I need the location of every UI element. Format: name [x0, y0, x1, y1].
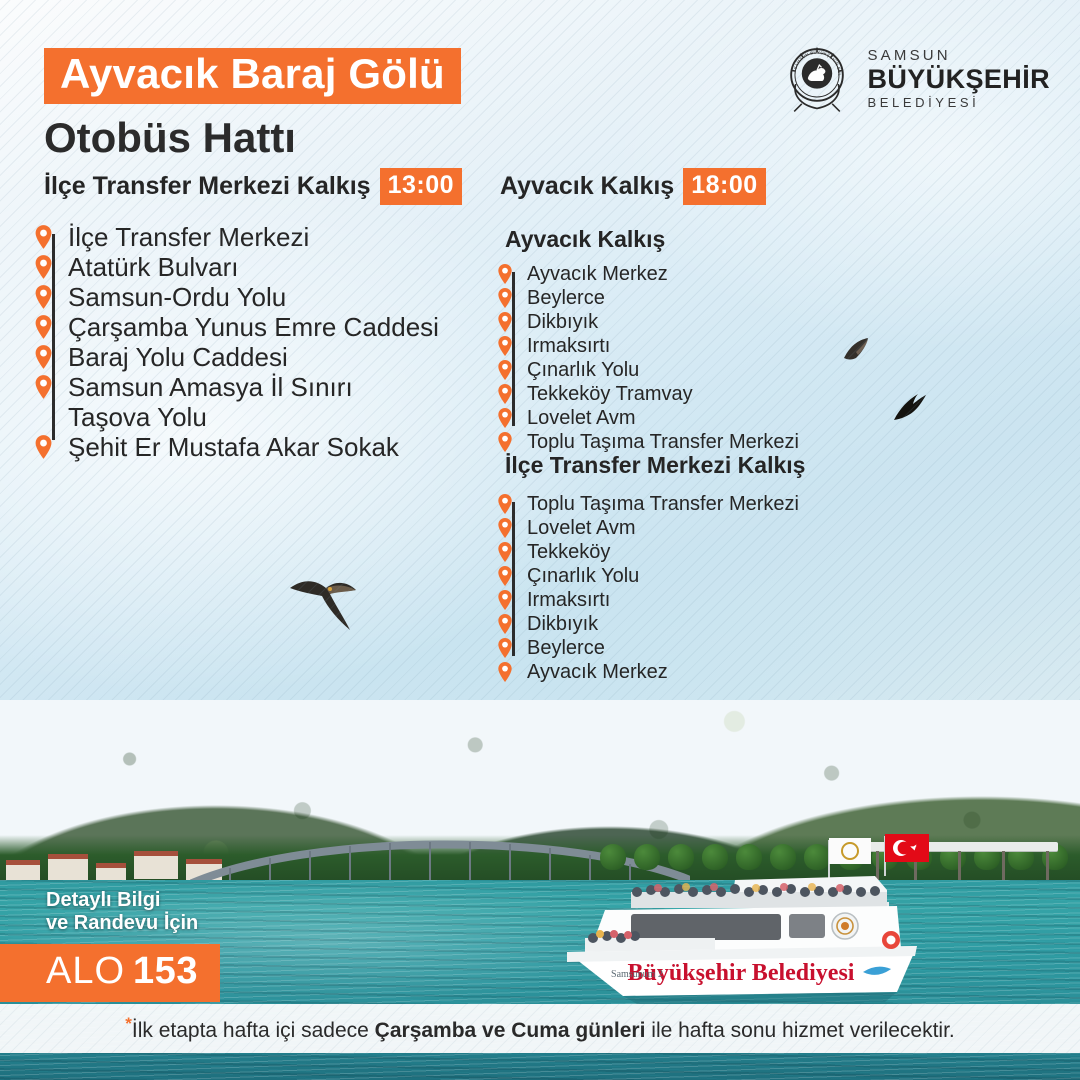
- alo-phone-badge[interactable]: ALO153: [0, 944, 220, 1002]
- contact-info-line-1: Detaylı Bilgi: [46, 889, 260, 913]
- stop-item: Atatürk Bulvarı: [52, 252, 439, 282]
- stop-item: Lovelet Avm: [512, 516, 799, 540]
- map-pin-icon: [504, 383, 520, 405]
- stop-label: Toplu Taşıma Transfer Merkezi: [527, 431, 799, 454]
- stop-item: Samsun-Ordu Yolu: [52, 282, 439, 312]
- map-pin-icon: [504, 335, 520, 357]
- right-column-heading: Ayvacık Kalkış 18:00: [500, 168, 766, 205]
- footer-asterisk: *: [125, 1014, 132, 1033]
- poster-root: Büyükşehir Belediyesi Samsunum 2 Ayvacık…: [0, 0, 1080, 1080]
- stop-item: Beylerce: [512, 636, 799, 660]
- map-pin-icon: [42, 344, 61, 370]
- page-title-badge: Ayvacık Baraj Gölü: [44, 48, 461, 104]
- stop-label: Beylerce: [527, 637, 605, 660]
- footer-note-text: *İlk etapta hafta içi sadece Çarşamba ve…: [125, 1014, 955, 1043]
- stop-item: Irmaksırtı: [512, 588, 799, 612]
- bird-small-a-icon: [840, 332, 880, 372]
- stop-label: İlçe Transfer Merkezi: [68, 222, 309, 253]
- stop-item: Taşova Yolu: [52, 402, 439, 432]
- map-pin-icon: [504, 589, 520, 611]
- bird-large-icon: [286, 558, 366, 638]
- stop-item: Toplu Taşıma Transfer Merkezi: [512, 430, 799, 454]
- right-departure-time: 18:00: [683, 168, 765, 205]
- map-pin-icon: [504, 311, 520, 333]
- map-pin-icon: [42, 224, 61, 250]
- stop-item: Dikbıyık: [512, 612, 799, 636]
- stop-label: Ayvacık Merkez: [527, 661, 668, 684]
- map-pin-icon: [42, 434, 61, 460]
- stop-label: Tekkeköy: [527, 541, 610, 564]
- right-stop-list-2: Toplu Taşıma Transfer Merkezi Lovelet Av…: [512, 492, 799, 684]
- page-subtitle: Otobüs Hattı: [44, 116, 461, 160]
- stop-item: Dikbıyık: [512, 310, 799, 334]
- contact-info-lines: Detaylı Bilgi ve Randevu İçin: [46, 889, 260, 936]
- map-pin-icon: [42, 284, 61, 310]
- stop-label: Baraj Yolu Caddesi: [68, 342, 288, 373]
- turkish-flag-icon: [885, 834, 929, 876]
- left-departure-time: 13:00: [380, 168, 462, 205]
- contact-info-line-2: ve Randevu İçin: [46, 912, 260, 936]
- boat-bow-name-text: Samsunum 2: [611, 969, 663, 980]
- map-pin-icon: [504, 637, 520, 659]
- map-pin-icon: [504, 431, 520, 453]
- map-pin-icon: [504, 287, 520, 309]
- stop-label: Dikbıyık: [527, 613, 598, 636]
- map-pin-icon: [42, 374, 61, 400]
- stop-item: Lovelet Avm: [512, 406, 799, 430]
- stop-label: Irmaksırtı: [527, 589, 610, 612]
- footer-part-1: İlk etapta hafta içi sadece: [132, 1019, 375, 1042]
- municipality-seal-icon: SAMSUN BÜYÜKŞEHİR BELEDİYESİ: [779, 40, 855, 116]
- stop-item: Irmaksırtı: [512, 334, 799, 358]
- left-stops-container: İlçe Transfer Merkezi Atatürk Bulvarı Sa…: [52, 222, 439, 462]
- map-pin-icon: [42, 254, 61, 280]
- map-pin-icon: [504, 517, 520, 539]
- right-stop-list-1: Ayvacık Merkez Beylerce Dikbıyık Irmaksı…: [512, 262, 799, 454]
- stop-label: Taşova Yolu: [68, 402, 207, 433]
- logo-wordmark: SAMSUN BÜYÜKŞEHİR BELEDİYESİ: [867, 48, 1050, 109]
- alo-number: 153: [133, 950, 198, 992]
- logo-line-1: SAMSUN: [867, 48, 1050, 63]
- bird-small-b-icon: [888, 386, 932, 430]
- map-pin-icon: [504, 263, 520, 285]
- stop-label: Samsun Amasya İl Sınırı: [68, 372, 353, 403]
- map-pin-icon: [504, 565, 520, 587]
- left-column-heading: İlçe Transfer Merkezi Kalkış 13:00: [44, 168, 462, 205]
- stop-label: Lovelet Avm: [527, 517, 636, 540]
- stop-pin-placeholder: [42, 404, 61, 430]
- alo-word: ALO: [46, 950, 125, 992]
- stop-label: Tekkeköy Tramvay: [527, 383, 693, 406]
- right-stops-2-container: Toplu Taşıma Transfer Merkezi Lovelet Av…: [512, 492, 799, 684]
- stop-item: Çınarlık Yolu: [512, 358, 799, 382]
- stop-label: Atatürk Bulvarı: [68, 252, 239, 283]
- stop-item: Ayvacık Merkez: [512, 262, 799, 286]
- right-section-2-title: İlçe Transfer Merkezi Kalkış: [505, 452, 805, 479]
- left-stop-list: İlçe Transfer Merkezi Atatürk Bulvarı Sa…: [52, 222, 439, 462]
- map-pin-icon: [504, 661, 520, 683]
- stop-item: Çınarlık Yolu: [512, 564, 799, 588]
- stop-label: Beylerce: [527, 287, 605, 310]
- municipality-flag-icon: [829, 838, 871, 878]
- footer-part-2: ile hafta sonu hizmet verilecektir.: [645, 1019, 954, 1042]
- stop-label: Lovelet Avm: [527, 407, 636, 430]
- footer-bold-days: Çarşamba ve Cuma günleri: [375, 1019, 646, 1042]
- stop-item: Şehit Er Mustafa Akar Sokak: [52, 432, 439, 462]
- stop-item: Tekkeköy Tramvay: [512, 382, 799, 406]
- right-section-1-title: Ayvacık Kalkış: [505, 226, 665, 253]
- municipality-logo: SAMSUN BÜYÜKŞEHİR BELEDİYESİ SAMSUN BÜYÜ…: [779, 40, 1050, 116]
- stop-label: Irmaksırtı: [527, 335, 610, 358]
- map-pin-icon: [504, 493, 520, 515]
- stop-label: Şehit Er Mustafa Akar Sokak: [68, 432, 399, 463]
- logo-line-3: BELEDİYESİ: [867, 96, 1050, 109]
- stop-item: Samsun Amasya İl Sınırı: [52, 372, 439, 402]
- stop-label: Dikbıyık: [527, 311, 598, 334]
- stop-label: Çarşamba Yunus Emre Caddesi: [68, 312, 439, 343]
- stop-item: Ayvacık Merkez: [512, 660, 799, 684]
- stop-label: Çınarlık Yolu: [527, 565, 639, 588]
- map-pin-icon: [504, 407, 520, 429]
- stop-label: Çınarlık Yolu: [527, 359, 639, 382]
- right-stops-1-container: Ayvacık Merkez Beylerce Dikbıyık Irmaksı…: [512, 262, 799, 454]
- stop-label: Toplu Taşıma Transfer Merkezi: [527, 493, 799, 516]
- ferry-boat: Büyükşehir Belediyesi Samsunum 2: [545, 830, 945, 1005]
- map-pin-icon: [504, 359, 520, 381]
- left-heading-text: İlçe Transfer Merkezi Kalkış: [44, 172, 371, 201]
- footer-note-bar: *İlk etapta hafta içi sadece Çarşamba ve…: [0, 1004, 1080, 1053]
- map-pin-icon: [42, 314, 61, 340]
- stop-item: Toplu Taşıma Transfer Merkezi: [512, 492, 799, 516]
- contact-block: Detaylı Bilgi ve Randevu İçin ALO153: [0, 889, 260, 1002]
- stop-item: Beylerce: [512, 286, 799, 310]
- map-pin-icon: [504, 541, 520, 563]
- stop-item: İlçe Transfer Merkezi: [52, 222, 439, 252]
- stop-item: Baraj Yolu Caddesi: [52, 342, 439, 372]
- header: Ayvacık Baraj Gölü Otobüs Hattı: [44, 48, 461, 160]
- stop-item: Çarşamba Yunus Emre Caddesi: [52, 312, 439, 342]
- stop-item: Tekkeköy: [512, 540, 799, 564]
- stop-label: Samsun-Ordu Yolu: [68, 282, 286, 313]
- right-heading-text: Ayvacık Kalkış: [500, 172, 674, 201]
- stop-label: Ayvacık Merkez: [527, 263, 668, 286]
- map-pin-icon: [504, 613, 520, 635]
- logo-line-2: BÜYÜKŞEHİR: [867, 66, 1050, 93]
